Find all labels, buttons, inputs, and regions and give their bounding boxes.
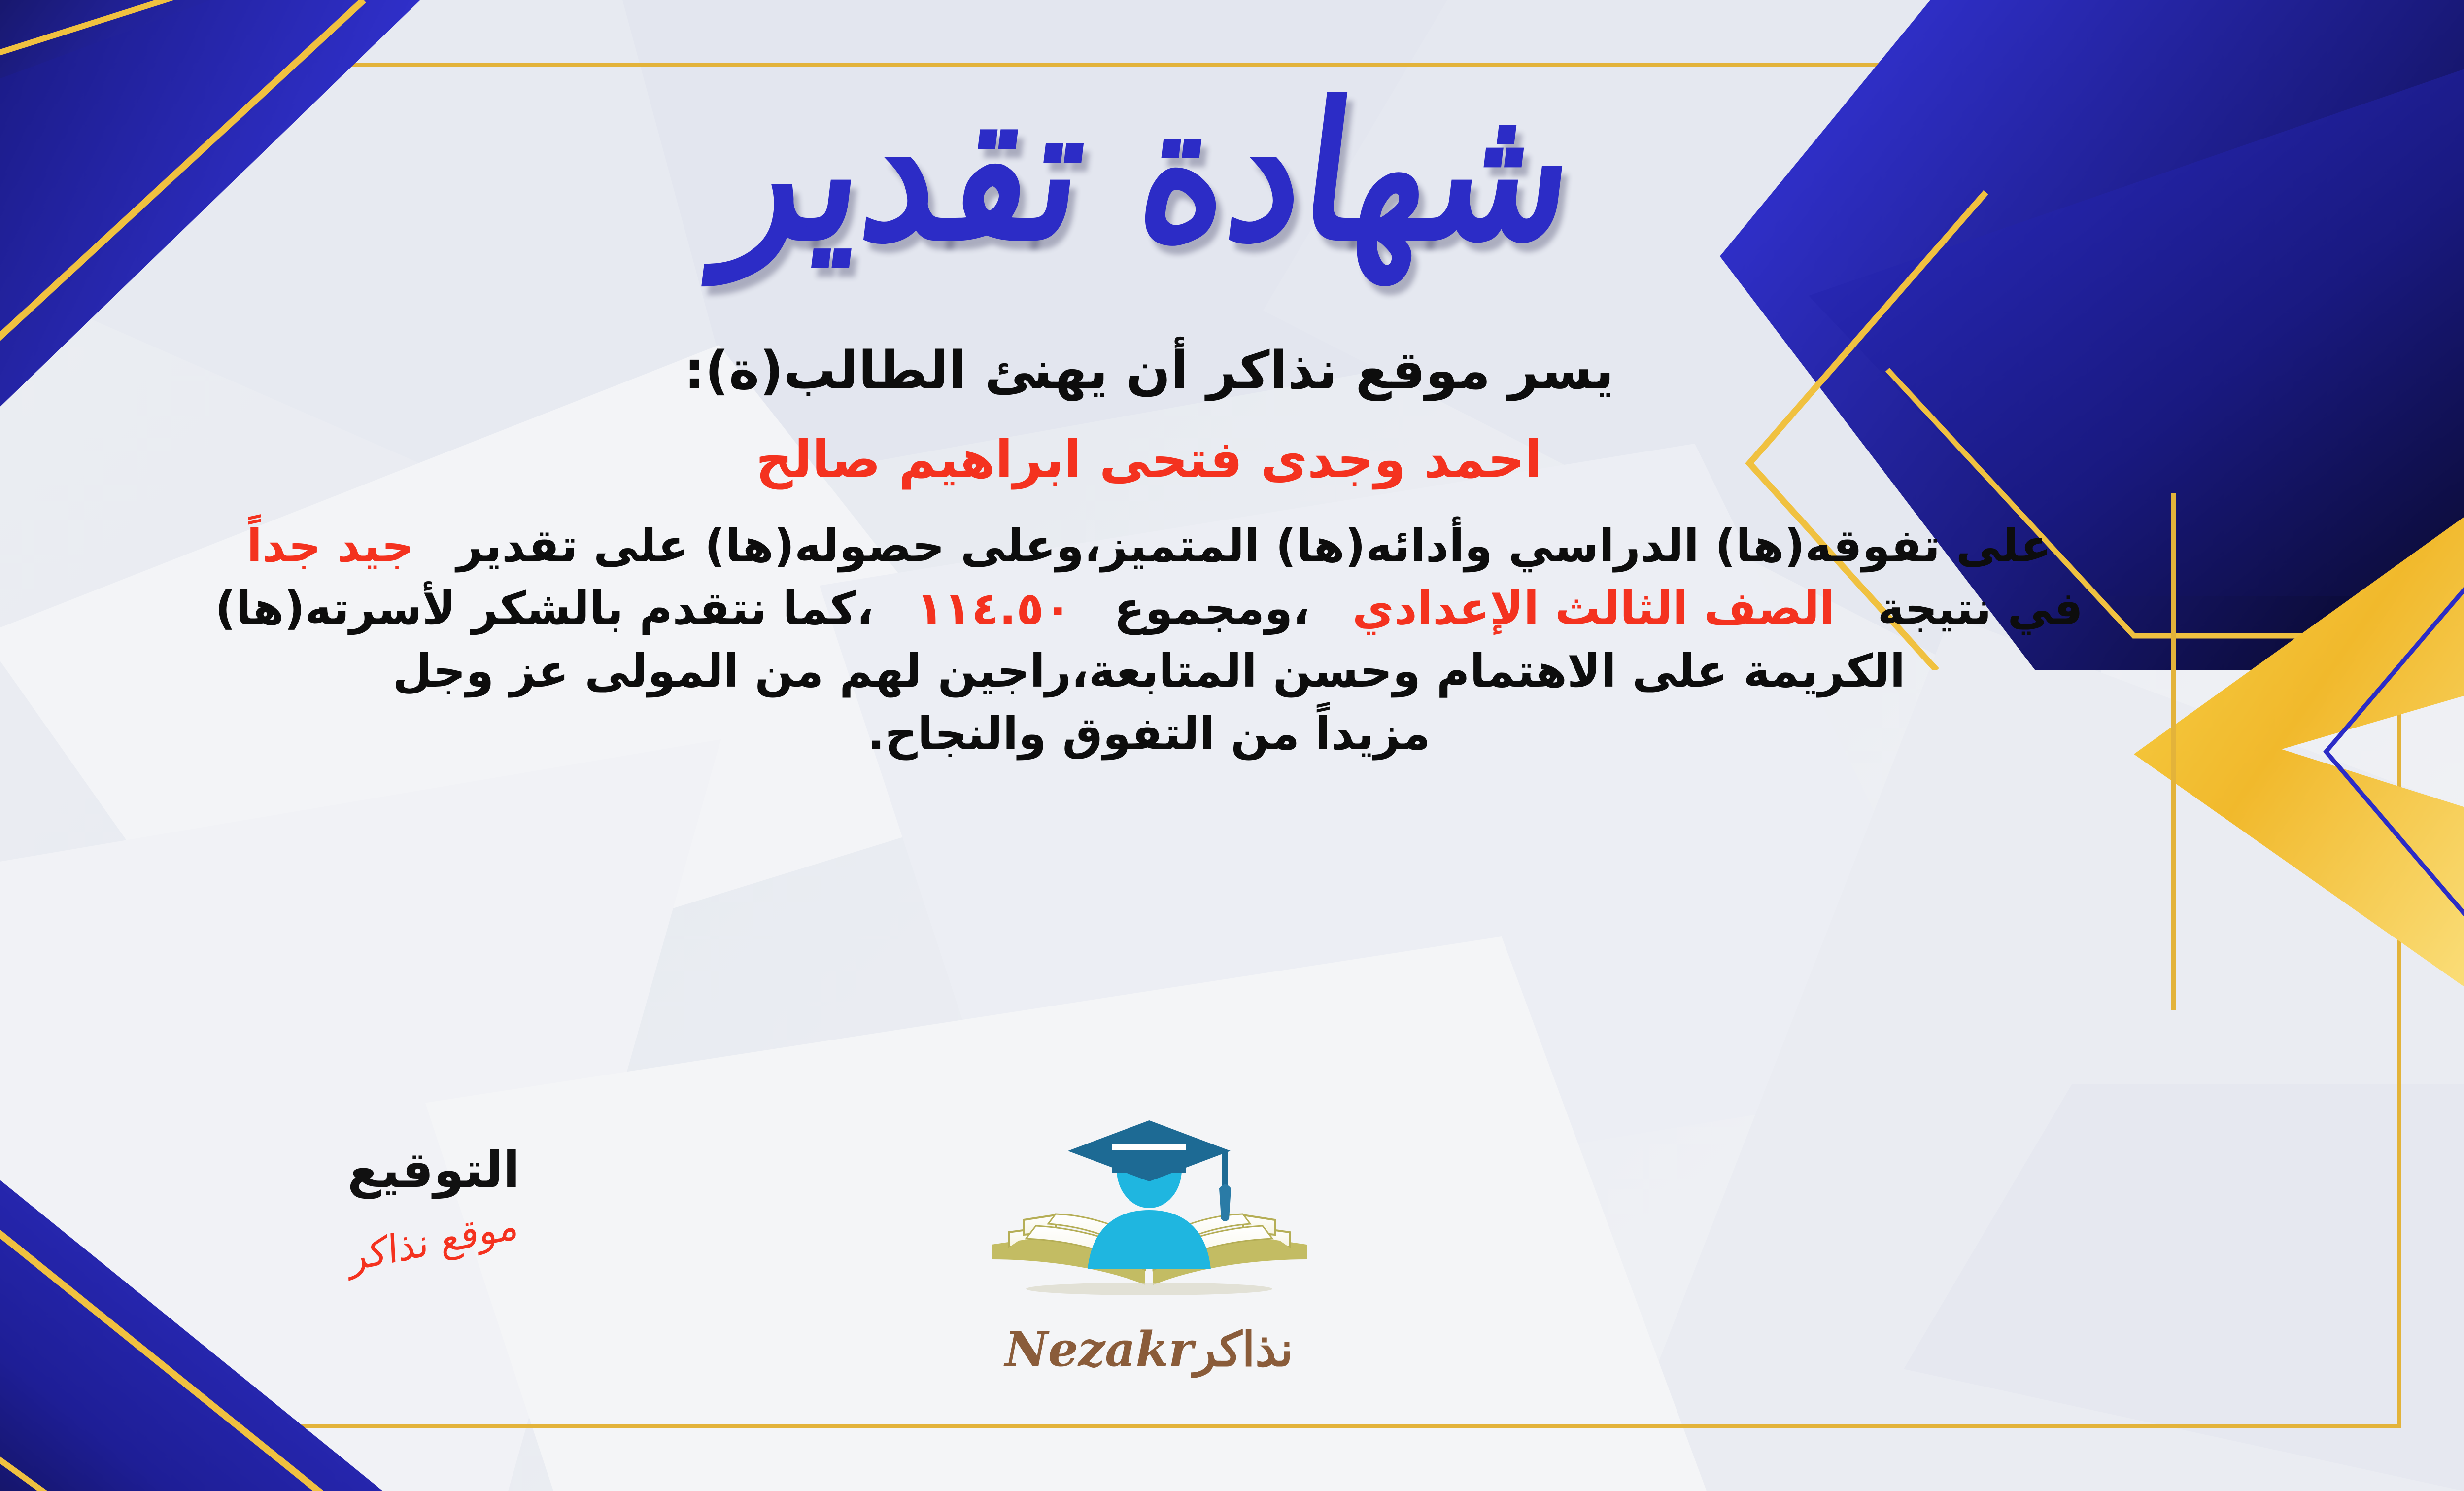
thanks-text: ،كما نتقدم بالشكر لأسرته(ها): [215, 582, 874, 635]
body-line-2: في نتيجةالصف الثالث الإعدادي،ومجموع١١٤.٥…: [0, 578, 2322, 640]
brand-logo: نذاكرNezakr: [962, 1111, 1336, 1377]
stage-value: الصف الثالث الإعدادي: [1352, 582, 1835, 635]
logo-text-arabic: نذاكر: [1194, 1321, 1293, 1377]
logo-wordmark: نذاكرNezakr: [962, 1321, 1336, 1377]
signature-mark: موقع نذاكر: [348, 1203, 519, 1281]
total-value: ١١٤.٥٠: [916, 582, 1072, 635]
signature-block: التوقيع موقع نذاكر: [256, 1141, 611, 1264]
body-line-3: الكريمة على الاهتمام وحسن المتابعة،راجين…: [0, 640, 2322, 703]
page-title: شهادة تقدير: [714, 79, 1584, 267]
student-name: احمد وجدى فتحى ابراهيم صالح: [756, 429, 1542, 489]
body-line-1-text: على تفوقه(ها) الدراسي وأدائه(ها) المتميز…: [456, 520, 2051, 572]
title-area: شهادة تقدير: [0, 69, 2464, 276]
certificate-page: شهادة تقدير يسر موقع نذاكر أن يهنئ الطال…: [0, 0, 2464, 1491]
certificate-footer: التوقيع موقع نذاكر: [0, 1111, 2464, 1417]
body-line-4: مزيداً من التفوق والنجاح.: [0, 703, 2322, 765]
result-prefix: في نتيجة: [1878, 582, 2083, 635]
signature-label: التوقيع: [256, 1141, 611, 1199]
logo-text-latin: Nezakr: [1005, 1321, 1194, 1377]
body-line-1: على تفوقه(ها) الدراسي وأدائه(ها) المتميز…: [0, 515, 2322, 578]
grade-value: جيد جداً: [246, 520, 414, 572]
total-label: ،ومجموع: [1114, 582, 1310, 635]
logo-mark: [962, 1111, 1336, 1318]
logo-graphic: [962, 1111, 1336, 1318]
body-paragraph: على تفوقه(ها) الدراسي وأدائه(ها) المتميز…: [0, 515, 2322, 765]
congratulation-line: يسر موقع نذاكر أن يهنئ الطالب(ة):: [684, 340, 1614, 401]
